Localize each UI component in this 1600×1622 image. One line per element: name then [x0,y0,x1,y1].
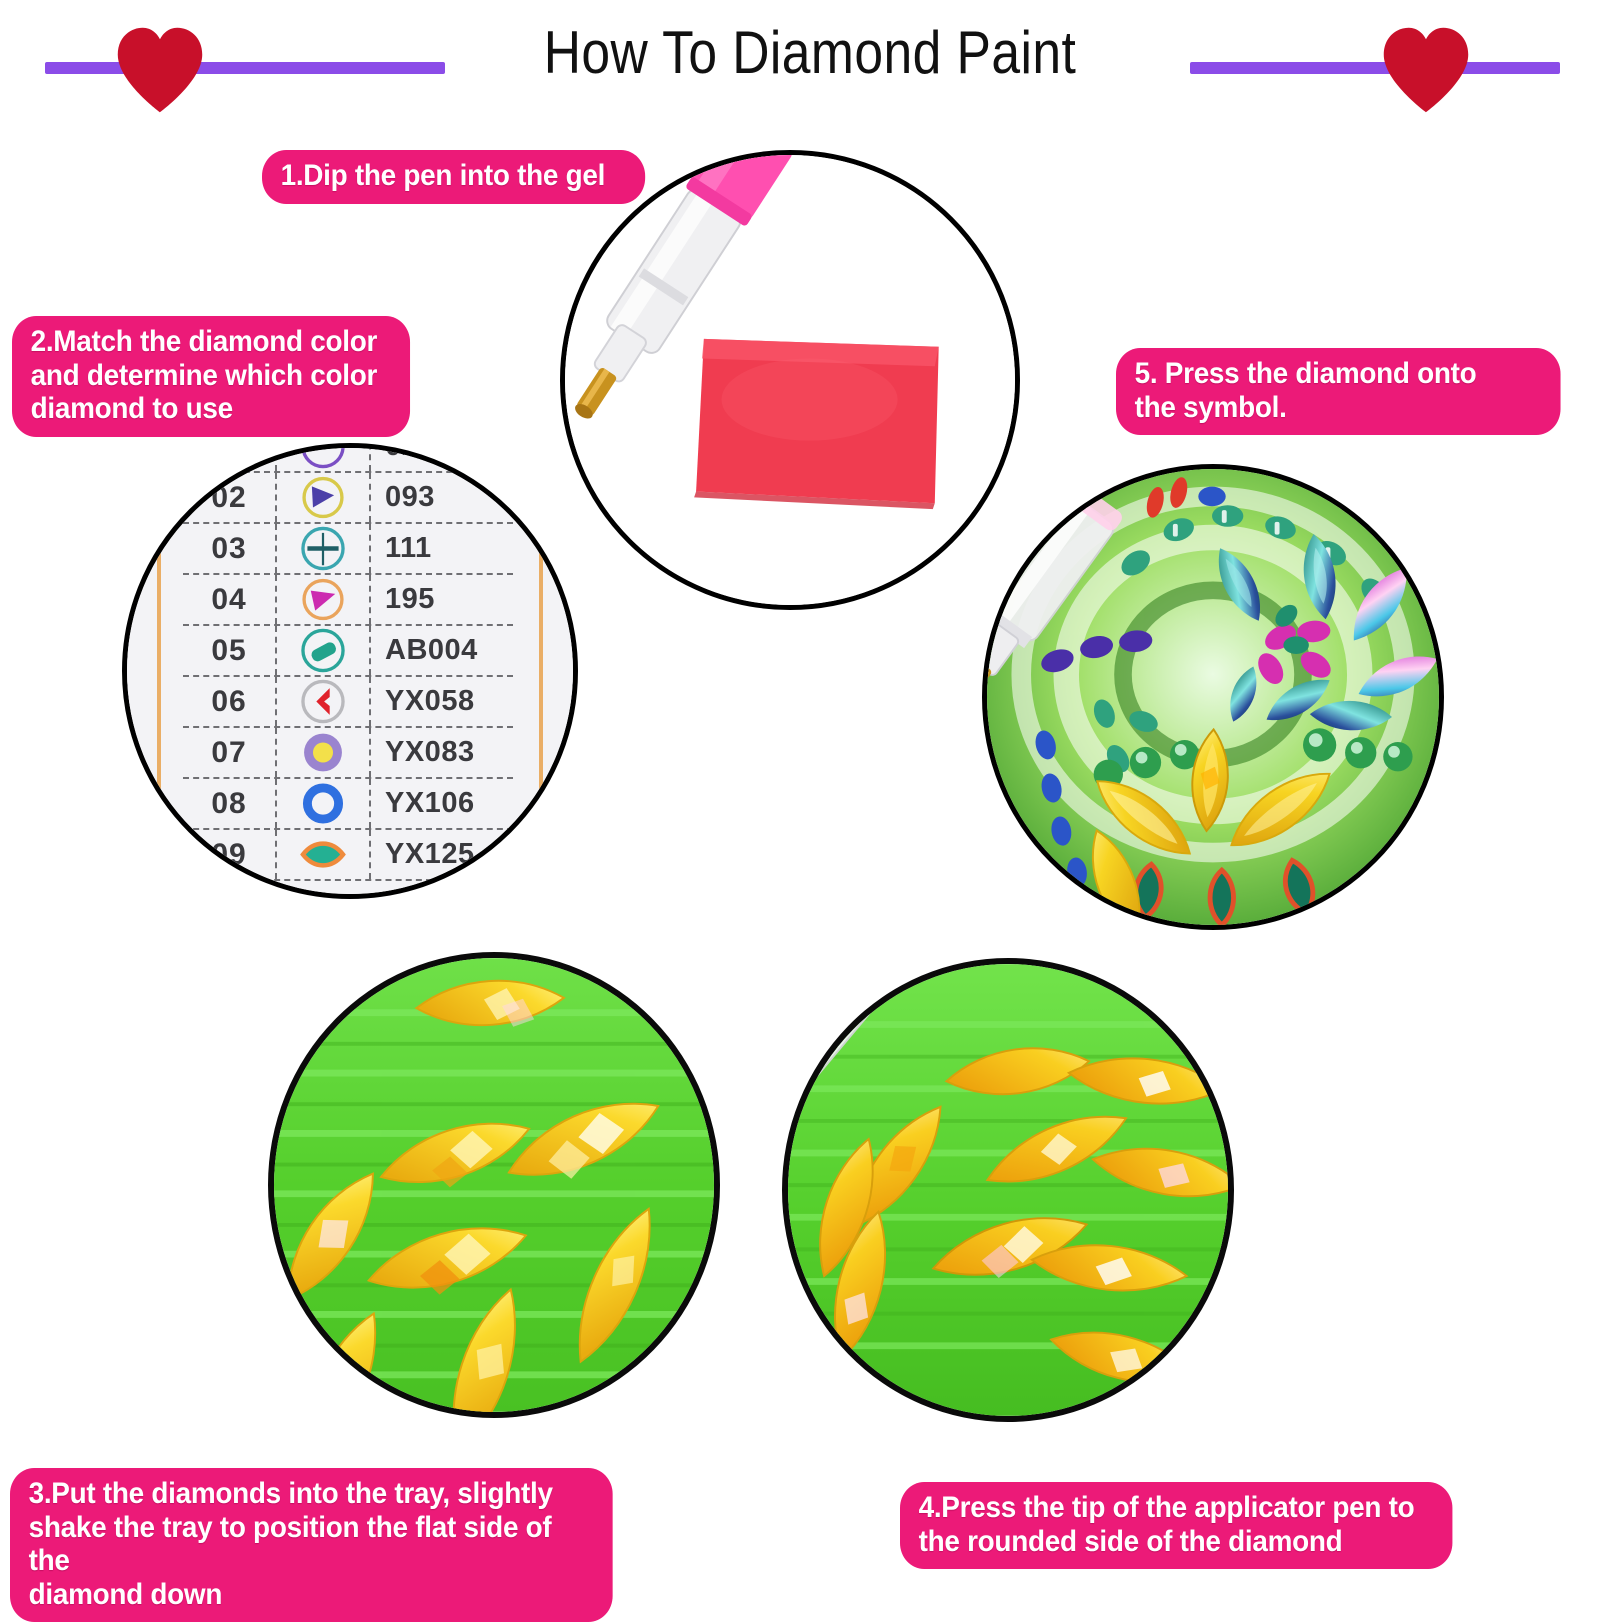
header-rule-left [45,62,445,74]
chart-row: 05 AB004 [183,626,513,677]
heart-icon-left [112,22,208,118]
red-left-chevron-in-gray-circle-icon [275,677,371,726]
step-2-photo: 01 02802 09303 11104 19505 AB00406 YX058… [122,443,578,899]
chart-row: 08 YX106 [183,779,513,830]
step-3-photo [268,952,720,1418]
rounded-bar-in-teal-circle-icon [275,626,371,675]
chart-row-number: 04 [183,583,275,617]
symbol-color-chart: 01 02802 09303 11104 19505 AB00406 YX058… [127,448,573,894]
chart-row-code: AB004 [371,634,513,667]
blue-ring-icon [275,779,371,828]
chart-row-number: 05 [183,634,275,668]
heart-icon-right [1378,22,1474,118]
mandala-canvas-illustration [987,469,1439,925]
step-4-label: 4.Press the tip of the applicator pen to… [900,1482,1452,1569]
step-4-line-2: the rounded side of the diamond [919,1525,1434,1559]
chart-margin-line-left [157,443,161,899]
chart-row-number: 03 [183,532,275,566]
header-rule-right [1190,62,1560,74]
pen-dipping-gel-illustration [565,155,1015,605]
step-4-photo [782,958,1234,1422]
step-3-label: 3.Put the diamonds into the tray, slight… [10,1468,613,1622]
step-4-line-1: 4.Press the tip of the applicator pen to [919,1491,1434,1525]
chart-row: 07 YX083 [183,728,513,779]
infographic-root: How To Diamond Paint 1.Dip the pen into … [0,0,1600,1600]
step-3-line-3: diamond down [29,1578,594,1612]
chart-row-number: 02 [183,481,275,515]
chart-row-code: YX125 [371,838,513,871]
chart-row-code: YX058 [371,685,513,718]
purple-triangle-in-yellow-circle-icon [275,473,371,522]
step-2-line-1: 2.Match the diamond color [31,325,392,359]
step-2-label: 2.Match the diamond color and determine … [12,316,410,437]
step-5-photo [982,464,1444,930]
chart-row-code: 093 [371,481,513,514]
chart-row: 01 028 [183,443,513,473]
chart-row-number: 01 [183,443,275,464]
chart-rows: 01 02802 09303 11104 19505 AB00406 YX058… [183,443,513,881]
chart-row-number: 07 [183,736,275,770]
chart-row: 04 195 [183,575,513,626]
magenta-triangle-in-orange-circle-icon [275,575,371,624]
chart-row-code: 195 [371,583,513,616]
chart-row: 02 093 [183,473,513,524]
chart-row: 09 YX125 [183,830,513,881]
pen-press-diamond-illustration [788,964,1228,1416]
step-2-line-2: and determine which color [31,359,392,393]
step-5-line-1: 5. Press the diamond onto [1135,357,1542,391]
step-3-line-1: 3.Put the diamonds into the tray, slight… [29,1477,594,1511]
page-title: How To Diamond Paint [483,18,1137,87]
chart-row-number: 08 [183,787,275,821]
chart-row-number: 06 [183,685,275,719]
step-1-line-1: 1.Dip the pen into the gel [281,159,627,193]
chart-row-code: YX083 [371,736,513,769]
yellow-dot-in-purple-ring-icon [275,728,371,777]
step-5-label: 5. Press the diamond onto the symbol. [1116,348,1561,435]
step-5-line-2: the symbol. [1135,391,1542,425]
chart-row: 06 YX058 [183,677,513,728]
plus-in-teal-circle-icon [275,524,371,573]
chart-row-code: 111 [371,532,513,565]
chart-row-code: 028 [371,443,513,463]
chart-row-number: 09 [183,838,275,872]
step-2-line-3: diamond to use [31,392,392,426]
diamond-tray-illustration [274,958,714,1412]
step-3-line-2: shake the tray to position the flat side… [29,1511,594,1578]
step-1-photo [560,150,1020,610]
double-dot-in-purple-circle-icon [275,443,371,471]
step-1-label: 1.Dip the pen into the gel [262,150,645,204]
teal-leaf-with-orange-outline-icon [275,830,371,879]
chart-row: 03 111 [183,524,513,575]
chart-margin-line-right [539,443,543,899]
chart-row-code: YX106 [371,787,513,820]
